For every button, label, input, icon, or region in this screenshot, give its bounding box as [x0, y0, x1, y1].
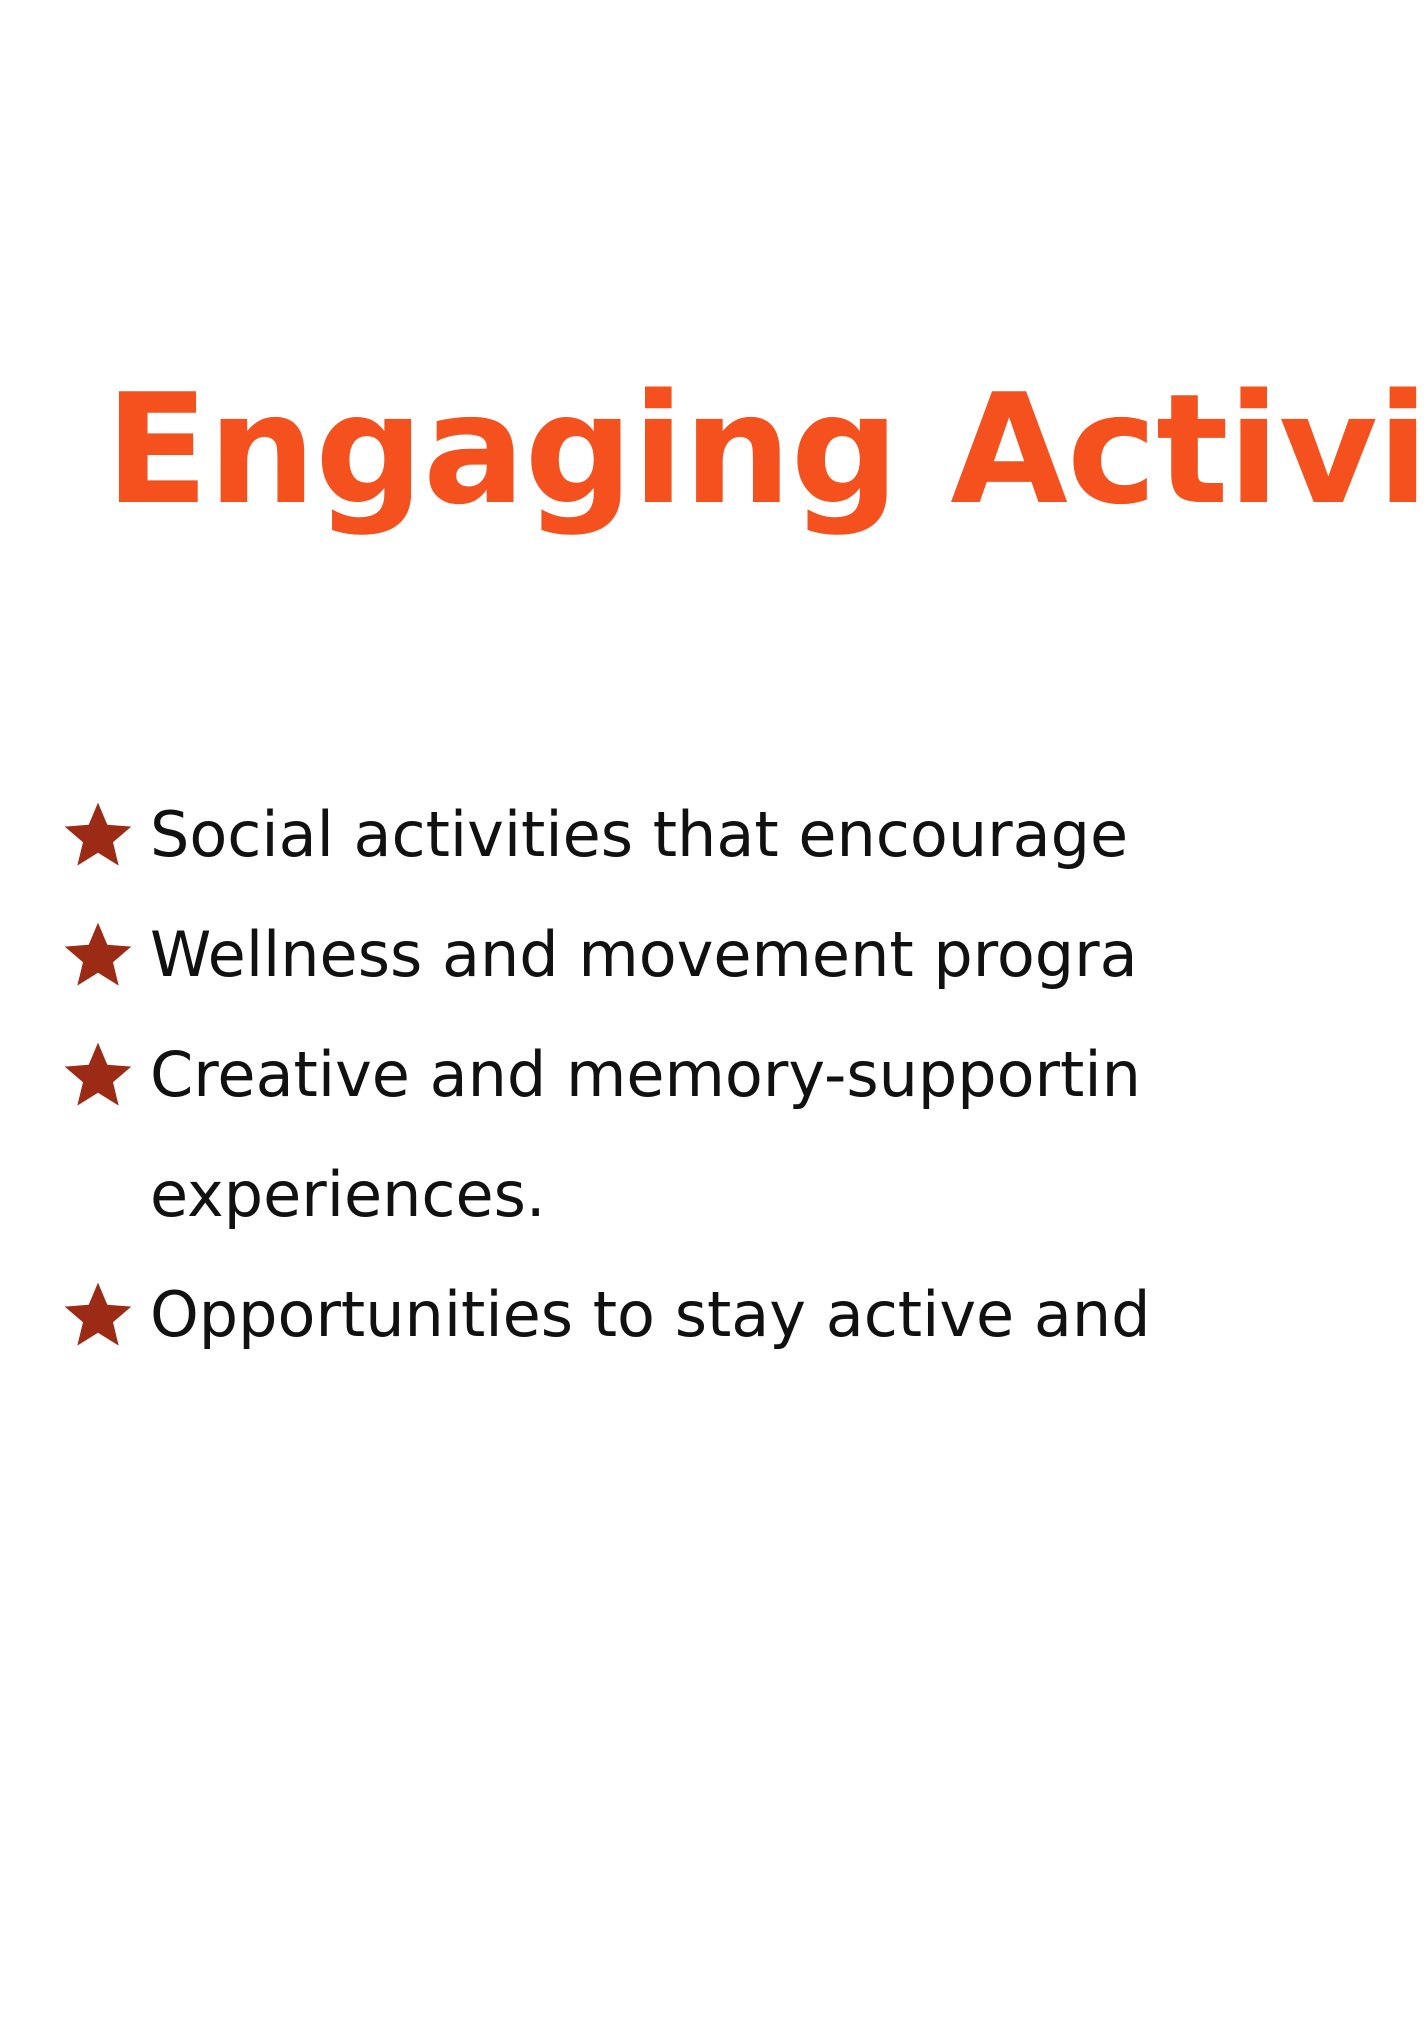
list-item: Social activities that encourage	[46, 775, 1428, 895]
star-icon	[46, 775, 150, 895]
star-icon	[46, 1255, 150, 1375]
list-item-continuation: experiences.	[46, 1135, 1428, 1255]
slide-title-block: Engaging Activitie	[105, 365, 1428, 545]
list-item-label: experiences.	[150, 1135, 546, 1255]
list-item: Wellness and movement progra	[46, 895, 1428, 1015]
star-icon	[46, 1015, 150, 1135]
list-item-label: Opportunities to stay active and	[150, 1255, 1151, 1375]
bullet-list: Social activities that encourage Wellnes…	[46, 775, 1428, 1375]
list-item: Creative and memory-supportin	[46, 1015, 1428, 1135]
list-item-label: Wellness and movement progra	[150, 895, 1138, 1015]
slide-canvas: Engaging Activitie Social activities tha…	[0, 0, 1428, 2018]
list-item-label: Social activities that encourage	[150, 775, 1128, 895]
list-item: Opportunities to stay active and	[46, 1255, 1428, 1375]
page-title: Engaging Activitie	[105, 365, 1428, 535]
star-icon	[46, 895, 150, 1015]
list-item-label: Creative and memory-supportin	[150, 1015, 1141, 1135]
